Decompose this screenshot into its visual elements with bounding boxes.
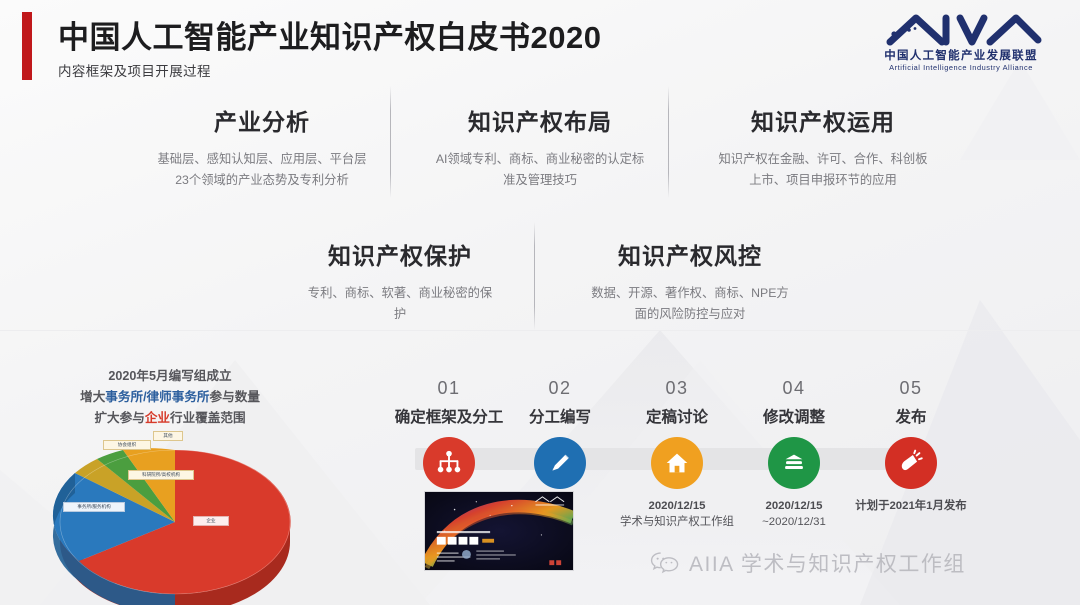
- timeline-step-05[interactable]: 05 发布 计划于2021年1月发布: [845, 378, 977, 514]
- step-number: 03: [611, 378, 743, 398]
- pillar-desc-line: 上市、项目申报环节的应用: [678, 170, 968, 191]
- pillar-title: 知识产权保护: [255, 237, 545, 271]
- step-date: 2020/12/15 学术与知识产权工作组: [611, 498, 743, 530]
- pillar-desc-line: 基础层、感知认知层、应用层、平台层: [112, 149, 412, 170]
- pillar-title: 知识产权运用: [678, 103, 968, 137]
- pillar-desc-line: 23个领域的产业态势及专利分析: [112, 170, 412, 191]
- pillar-card-ip-layout: 知识产权布局 AI领域专利、商标、商业秘密的认定标 准及管理技巧: [400, 103, 680, 191]
- timeline-step-02[interactable]: 02 分工编写: [494, 378, 626, 498]
- kickoff-photo-image: [425, 492, 573, 570]
- step-icon-badge[interactable]: [423, 437, 475, 489]
- pillar-desc-line: 数据、开源、著作权、商标、NPE方: [545, 283, 835, 304]
- pie-chart-graphic: [35, 430, 315, 605]
- step-icon-badge[interactable]: [651, 437, 703, 489]
- slide-canvas: 中国人工智能产业知识产权白皮书2020 内容框架及项目开展过程 中国人工智能产业…: [0, 0, 1080, 605]
- pillar-divider: [390, 86, 391, 198]
- note-line-3-pre: 扩大参与: [94, 411, 144, 425]
- pillar-desc-line: 准及管理技巧: [400, 170, 680, 191]
- aiia-wave-logo-icon: [868, 8, 1054, 48]
- step-date-main: 计划于2021年1月发布: [845, 498, 977, 514]
- note-line-1: 2020年5月编写组成立: [30, 366, 310, 387]
- kickoff-meeting-photo[interactable]: [424, 491, 574, 571]
- pie-slice-label: 科研院所/高校机构: [128, 470, 194, 480]
- watermark-text: AIIA 学术与知识产权工作组: [689, 548, 966, 578]
- participant-composition-pie-chart: 事务所/服务机构 科研院所/高校机构 协会组织 其他 企业: [35, 430, 315, 605]
- wechat-watermark: AIIA 学术与知识产权工作组: [650, 548, 966, 578]
- pillar-desc-line: 护: [255, 304, 545, 325]
- step-label: 修改调整: [728, 405, 860, 427]
- pillar-desc-line: 面的风险防控与应对: [545, 304, 835, 325]
- step-date-sub: ~2020/12/31: [728, 514, 860, 530]
- pillar-divider: [534, 222, 535, 330]
- pencil-icon: [545, 448, 575, 478]
- home-icon: [662, 448, 692, 478]
- step-label: 分工编写: [494, 405, 626, 427]
- timeline-step-04[interactable]: 04 修改调整 2020/12/15 ~2020/12/31: [728, 378, 860, 530]
- step-icon-badge[interactable]: [534, 437, 586, 489]
- pie-slice-label: 企业: [193, 516, 229, 526]
- page-title: 中国人工智能产业知识产权白皮书2020: [58, 12, 601, 57]
- pillar-card-ip-protection: 知识产权保护 专利、商标、软著、商业秘密的保 护: [255, 237, 545, 325]
- org-chart-icon: [434, 448, 464, 478]
- pillar-desc-line: 专利、商标、软著、商业秘密的保: [255, 283, 545, 304]
- step-label: 发布: [845, 405, 977, 427]
- note-line-2-post: 参与数量: [210, 390, 260, 404]
- pillar-desc-line: AI领域专利、商标、商业秘密的认定标: [400, 149, 680, 170]
- megaphone-icon: [896, 448, 926, 478]
- logo-name-cn: 中国人工智能产业发展联盟: [868, 49, 1054, 63]
- page-subtitle: 内容框架及项目开展过程: [58, 60, 211, 80]
- editorial-group-note: 2020年5月编写组成立 增大事务所/律师事务所参与数量 扩大参与企业行业覆盖范…: [30, 366, 310, 429]
- step-date: 计划于2021年1月发布: [845, 498, 977, 514]
- pillar-title: 知识产权布局: [400, 103, 680, 137]
- step-number: 05: [845, 378, 977, 398]
- step-date-main: 2020/12/15: [728, 498, 860, 514]
- note-line-2-pre: 增大: [80, 390, 105, 404]
- step-number: 02: [494, 378, 626, 398]
- pillar-title: 产业分析: [112, 103, 412, 137]
- pillar-card-ip-risk-control: 知识产权风控 数据、开源、著作权、商标、NPE方 面的风险防控与应对: [545, 237, 835, 325]
- wechat-icon: [650, 550, 680, 576]
- note-line-3-highlight: 企业: [145, 411, 170, 425]
- pillar-title: 知识产权风控: [545, 237, 835, 271]
- logo-name-en: Artificial Intelligence Industry Allianc…: [868, 63, 1054, 73]
- pillar-card-ip-utilization: 知识产权运用 知识产权在金融、许可、合作、科创板 上市、项目申报环节的应用: [678, 103, 968, 191]
- pie-slice-label: 事务所/服务机构: [63, 502, 125, 512]
- aiia-logo: 中国人工智能产业发展联盟 Artificial Intelligence Ind…: [868, 8, 1054, 80]
- step-icon-badge[interactable]: [885, 437, 937, 489]
- step-date-main: 2020/12/15: [611, 498, 743, 514]
- note-line-3: 扩大参与企业行业覆盖范围: [30, 408, 310, 429]
- step-label: 定稿讨论: [611, 405, 743, 427]
- pillar-divider: [668, 86, 669, 198]
- step-date-sub: 学术与知识产权工作组: [611, 514, 743, 530]
- pillar-desc-line: 知识产权在金融、许可、合作、科创板: [678, 149, 968, 170]
- layers-icon: [779, 448, 809, 478]
- note-line-2-highlight: 事务所/律师事务所: [105, 390, 209, 404]
- note-line-2: 增大事务所/律师事务所参与数量: [30, 387, 310, 408]
- step-number: 04: [728, 378, 860, 398]
- note-line-3-post: 行业覆盖范围: [170, 411, 246, 425]
- step-date: 2020/12/15 ~2020/12/31: [728, 498, 860, 530]
- pillar-card-industry-analysis: 产业分析 基础层、感知认知层、应用层、平台层 23个领域的产业态势及专利分析: [112, 103, 412, 191]
- timeline-step-03[interactable]: 03 定稿讨论 2020/12/15 学术与知识产权工作组: [611, 378, 743, 530]
- pie-slice-label: 协会组织: [103, 440, 151, 450]
- pie-slice-label: 其他: [153, 431, 183, 441]
- title-accent-bar: [22, 12, 32, 80]
- step-icon-badge[interactable]: [768, 437, 820, 489]
